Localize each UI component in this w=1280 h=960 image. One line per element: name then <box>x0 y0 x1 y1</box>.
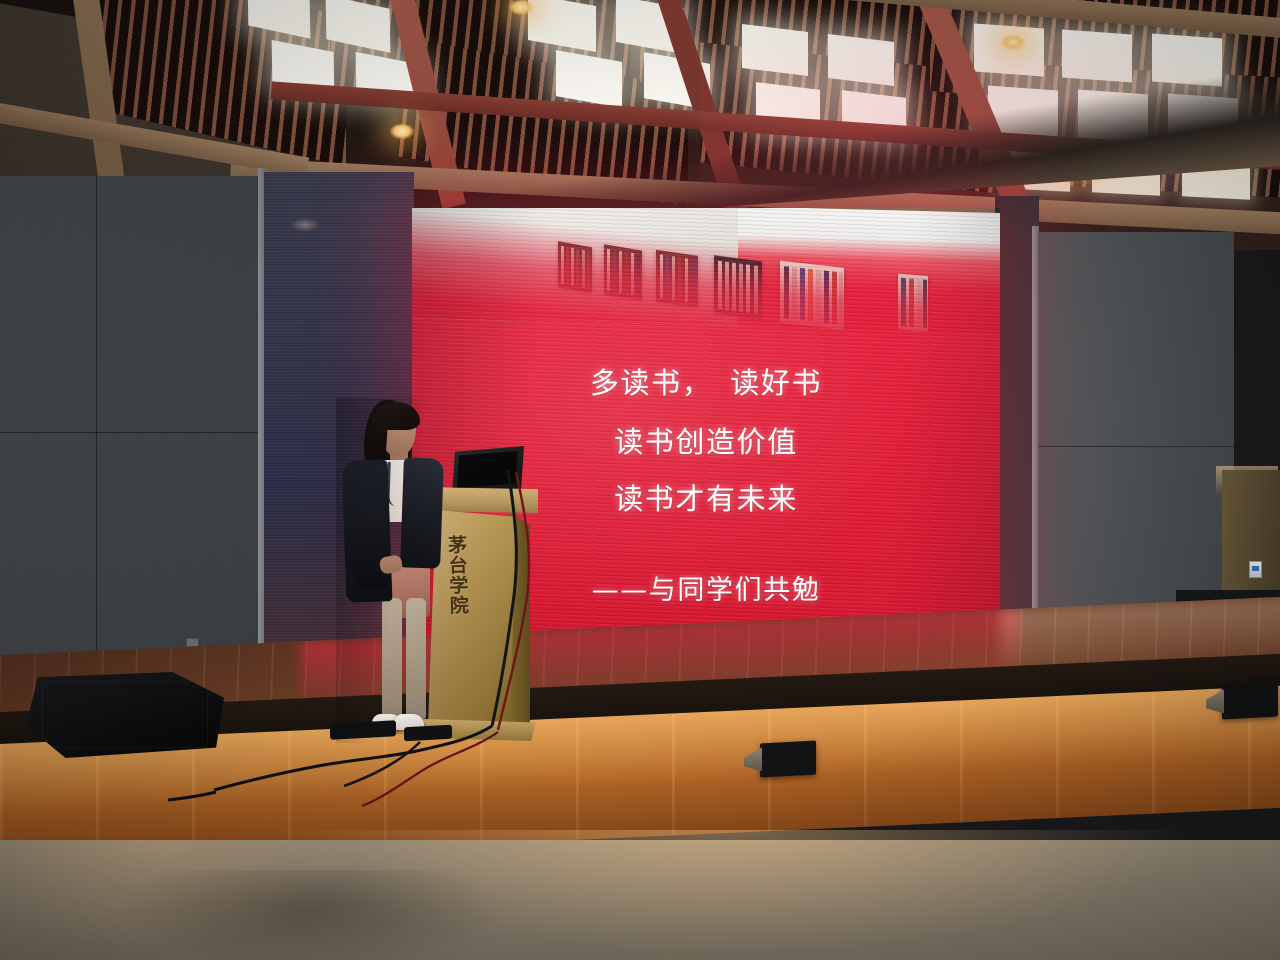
presenter-jacket-right <box>400 457 444 568</box>
presenter <box>336 398 448 743</box>
panel-light-glint <box>290 218 320 232</box>
presenter-arm <box>350 509 390 589</box>
wall-left <box>0 176 266 696</box>
presenter-legs <box>382 598 430 720</box>
ceiling-light-panel <box>828 34 894 86</box>
hall-floor <box>0 840 1280 960</box>
ceiling-light-panel <box>742 24 808 76</box>
ceiling-downlight <box>1000 35 1026 51</box>
auditorium-scene: 多读书，读好书 读书创造价值 读书才有未来 ——与同学们共勉 茅台学院 <box>0 0 1280 960</box>
slide-line-1: 多读书，读好书 <box>412 360 1000 402</box>
glasses-icon <box>390 425 416 433</box>
stage-monitor-speaker <box>760 741 816 778</box>
ceiling-downlight <box>508 0 534 16</box>
floor-monitor-speaker <box>26 672 224 758</box>
cable-floor-plate <box>404 725 452 742</box>
stage-monitor-speaker <box>1222 683 1278 720</box>
exit-sign-icon <box>1249 561 1262 578</box>
